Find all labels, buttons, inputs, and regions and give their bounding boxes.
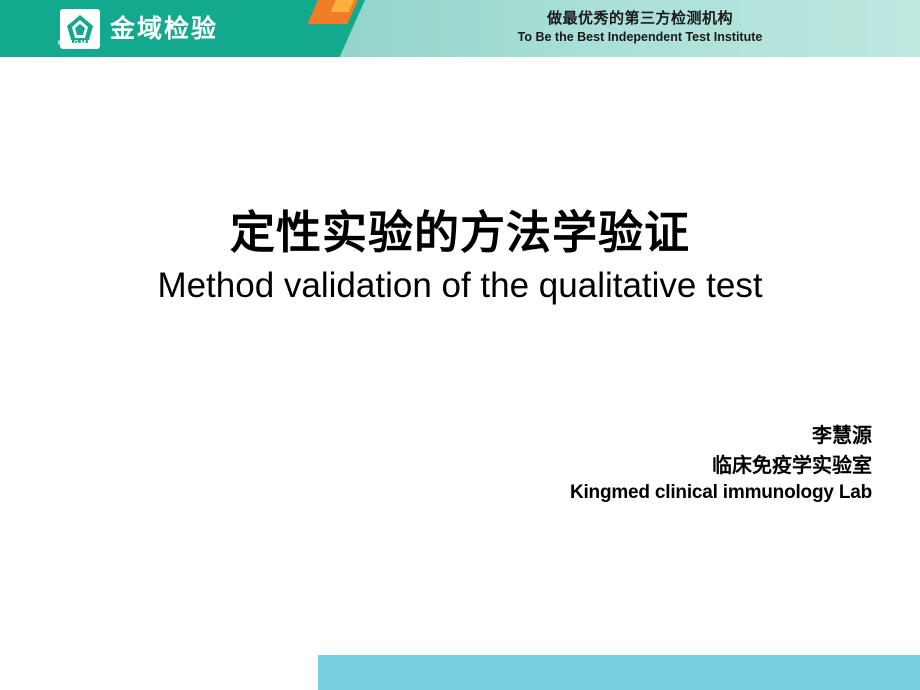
author-department: 临床免疫学实验室 xyxy=(570,450,872,480)
slide-title-en: Method validation of the qualitative tes… xyxy=(0,263,920,309)
author-name: 李慧源 xyxy=(570,420,872,450)
slide-header: 金域检验 KINGMED 做最优秀的第三方检测机构 To Be the Best… xyxy=(0,0,920,57)
slogan-en: To Be the Best Independent Test Institut… xyxy=(430,28,850,46)
footer-bar xyxy=(318,655,920,690)
title-block: 定性实验的方法学验证 Method validation of the qual… xyxy=(0,205,920,309)
slide: 金域检验 KINGMED 做最优秀的第三方检测机构 To Be the Best… xyxy=(0,0,920,690)
brand-name-cn: 金域检验 xyxy=(110,15,218,43)
header-divider xyxy=(0,57,920,61)
slide-title-cn: 定性实验的方法学验证 xyxy=(0,205,920,261)
header-slogan: 做最优秀的第三方检测机构 To Be the Best Independent … xyxy=(430,8,850,46)
brand-name-en: KINGMED xyxy=(58,40,99,47)
author-block: 李慧源 临床免疫学实验室 Kingmed clinical immunology… xyxy=(570,420,872,506)
author-lab-en: Kingmed clinical immunology Lab xyxy=(570,480,872,506)
slogan-cn: 做最优秀的第三方检测机构 xyxy=(430,8,850,28)
brand-logo-text: 金域检验 xyxy=(110,15,218,43)
